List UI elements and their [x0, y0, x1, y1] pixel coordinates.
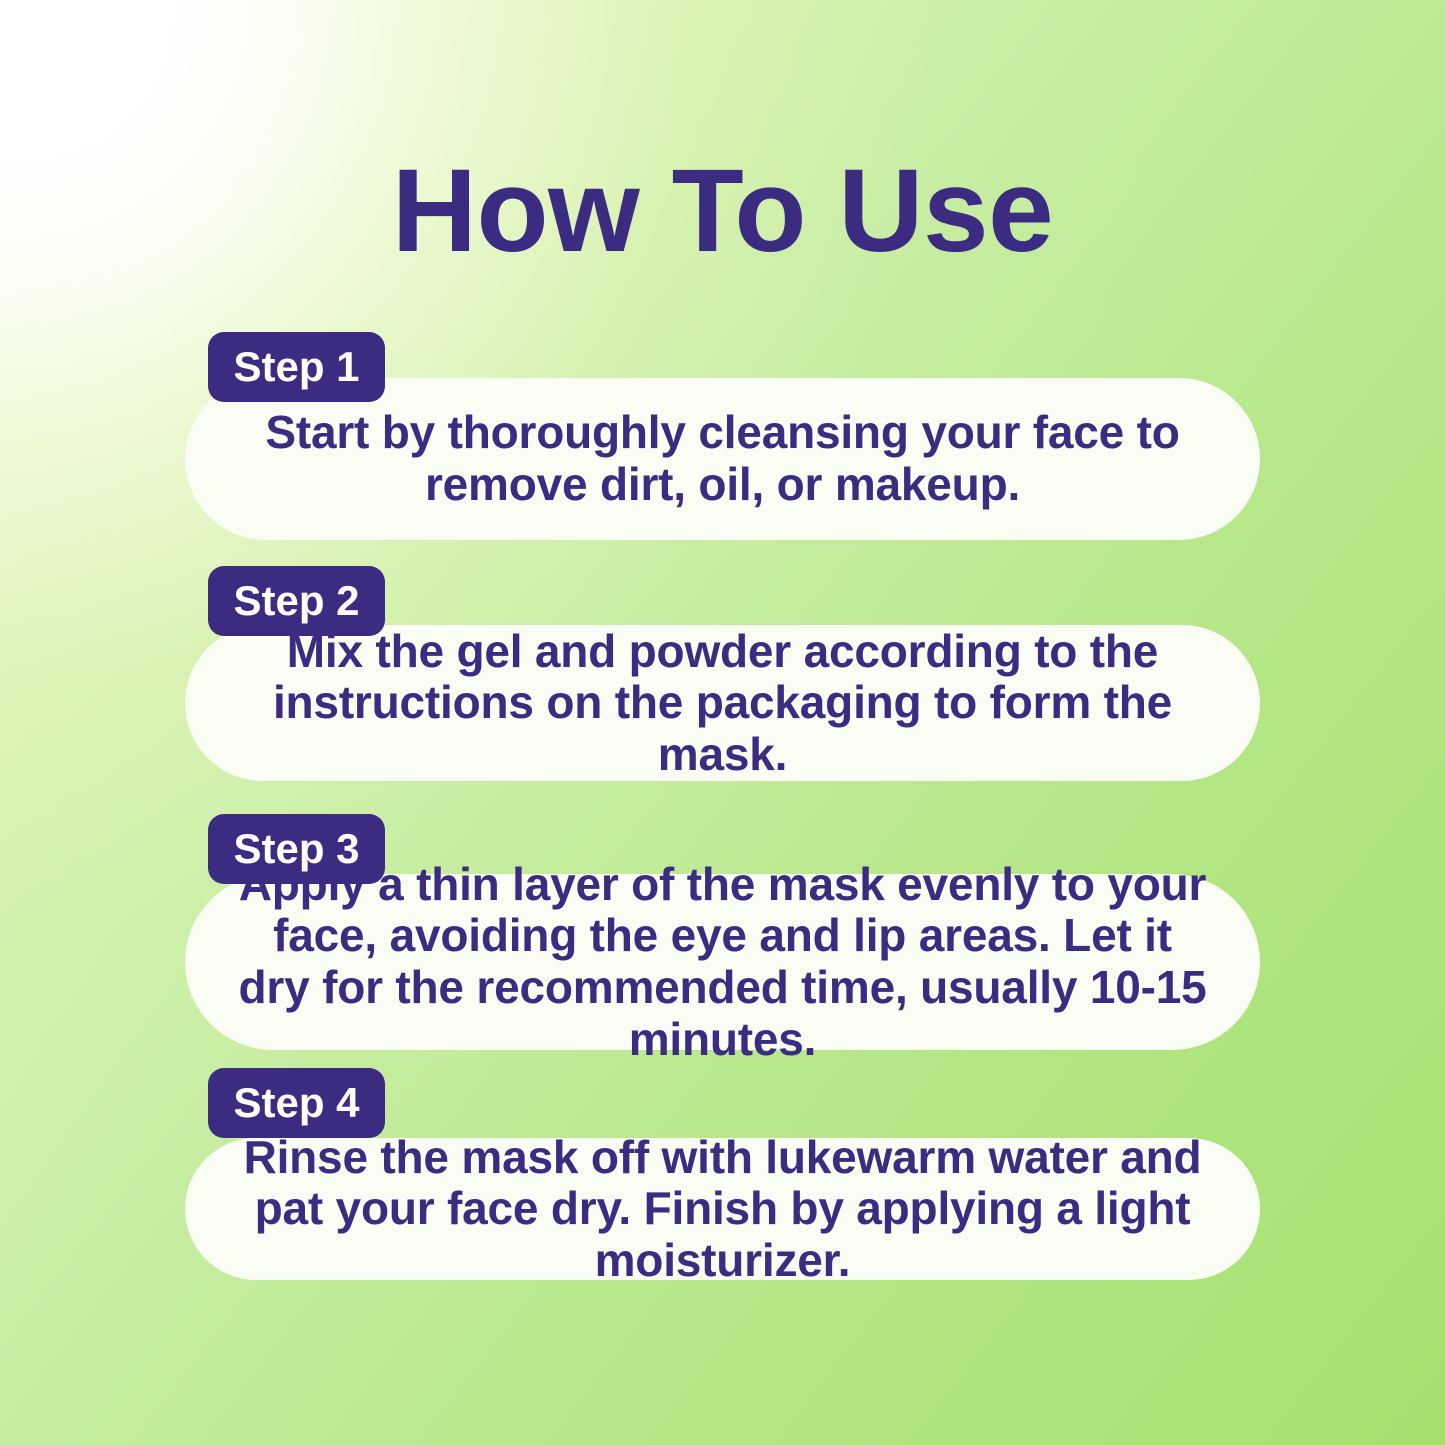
how-to-use-poster: How To Use Step 1 Start by thoroughly cl… [0, 0, 1445, 1445]
step-card-2: Mix the gel and powder according to the … [185, 625, 1260, 781]
step-text-1: Start by thoroughly cleansing your face … [218, 407, 1228, 510]
step-badge-3: Step 3 [208, 814, 385, 884]
step-badge-2: Step 2 [208, 566, 385, 636]
page-title: How To Use [0, 152, 1445, 270]
step-card-3: Apply a thin layer of the mask evenly to… [185, 874, 1260, 1050]
step-card-4: Rinse the mask off with lukewarm water a… [185, 1138, 1260, 1280]
step-text-2: Mix the gel and powder according to the … [218, 626, 1228, 781]
step-text-4: Rinse the mask off with lukewarm water a… [218, 1132, 1228, 1287]
step-badge-1: Step 1 [208, 332, 385, 402]
step-badge-4: Step 4 [208, 1068, 385, 1138]
step-card-1: Start by thoroughly cleansing your face … [185, 378, 1260, 540]
step-text-3: Apply a thin layer of the mask evenly to… [218, 859, 1228, 1065]
